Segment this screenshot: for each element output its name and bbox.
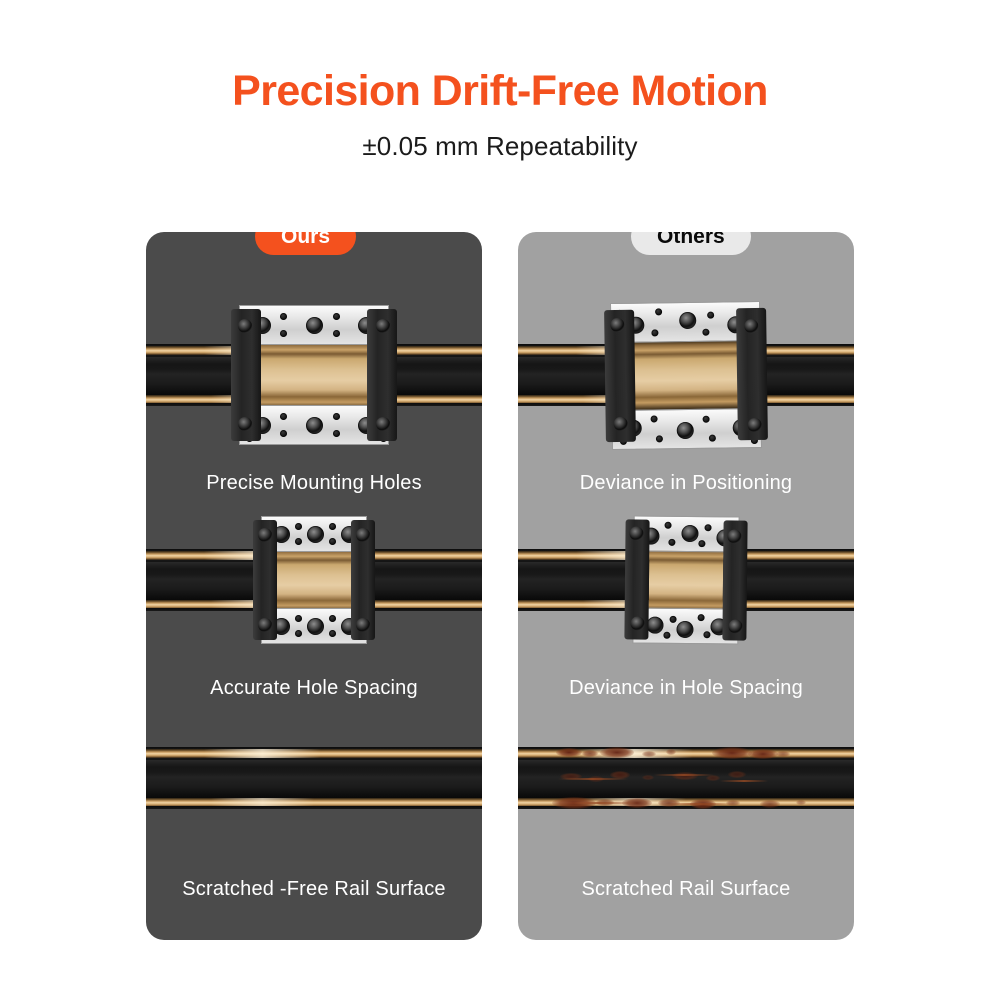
carriage-block-uneven xyxy=(624,515,747,644)
others-caption-row2: Deviance in Hole Spacing xyxy=(518,677,854,700)
others-row2-illustration xyxy=(518,505,854,655)
carriage-block-misaligned xyxy=(602,304,770,446)
carriage-block xyxy=(231,305,397,445)
badge-others: Others xyxy=(631,232,751,255)
ours-caption-row2: Accurate Hole Spacing xyxy=(146,677,482,700)
rail-graphic-clean xyxy=(146,747,482,809)
badge-ours: Ours xyxy=(255,232,356,255)
ours-row-hole-spacing: Accurate Hole Spacing xyxy=(146,505,482,710)
comparison-container: Ours xyxy=(146,232,854,940)
page-subtitle: ±0.05 mm Repeatability xyxy=(0,131,1000,162)
others-row1-illustration xyxy=(518,300,854,450)
others-row-rail-surface: Scratched Rail Surface xyxy=(518,710,854,940)
panel-others: Others xyxy=(518,232,854,940)
others-row3-illustration xyxy=(518,710,854,845)
others-row-positioning: Deviance in Positioning xyxy=(518,300,854,505)
others-row-hole-spacing: Deviance in Hole Spacing xyxy=(518,505,854,710)
ours-row1-illustration xyxy=(146,300,482,450)
carriage-block xyxy=(253,516,375,644)
others-caption-row1: Deviance in Positioning xyxy=(518,472,854,495)
ours-row2-illustration xyxy=(146,505,482,655)
ours-caption-row1: Precise Mounting Holes xyxy=(146,472,482,495)
ours-row3-illustration xyxy=(146,710,482,845)
ours-caption-row3: Scratched -Free Rail Surface xyxy=(146,878,482,901)
page-header: Precision Drift-Free Motion ±0.05 mm Rep… xyxy=(0,0,1000,162)
ours-row-rail-surface: Scratched -Free Rail Surface xyxy=(146,710,482,940)
panel-ours: Ours xyxy=(146,232,482,940)
rail-graphic-damaged xyxy=(518,747,854,809)
ours-row-mounting-holes: Precise Mounting Holes xyxy=(146,300,482,505)
others-caption-row3: Scratched Rail Surface xyxy=(518,878,854,901)
page-title: Precision Drift-Free Motion xyxy=(0,68,1000,115)
